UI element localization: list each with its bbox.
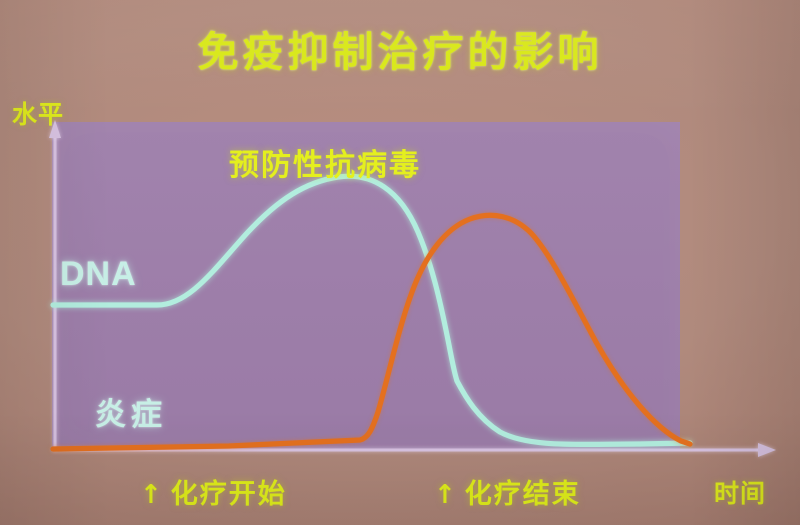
slide-canvas: 免疫抑制治疗的影响 水平 时间 预防性抗病毒 DNA 炎症 ↑化疗开始 ↑化疗结… (0, 0, 800, 525)
y-axis-arrowhead (49, 120, 61, 138)
up-arrow-icon: ↑ (434, 480, 458, 510)
annotation-chemo-end: ↑化疗结束 (434, 472, 581, 511)
annotation-chemo-start: ↑化疗开始 (140, 472, 287, 511)
up-arrow-icon: ↑ (140, 480, 164, 510)
series-label-dna: DNA (60, 255, 137, 294)
series-label-inflammation: 炎症 (95, 389, 167, 434)
annotation-chemo-start-label: 化疗开始 (171, 479, 287, 510)
x-axis-arrowhead (758, 443, 776, 457)
annotation-antiviral-label: 预防性抗病毒 (229, 140, 421, 184)
annotation-chemo-end-label: 化疗结束 (465, 479, 581, 510)
